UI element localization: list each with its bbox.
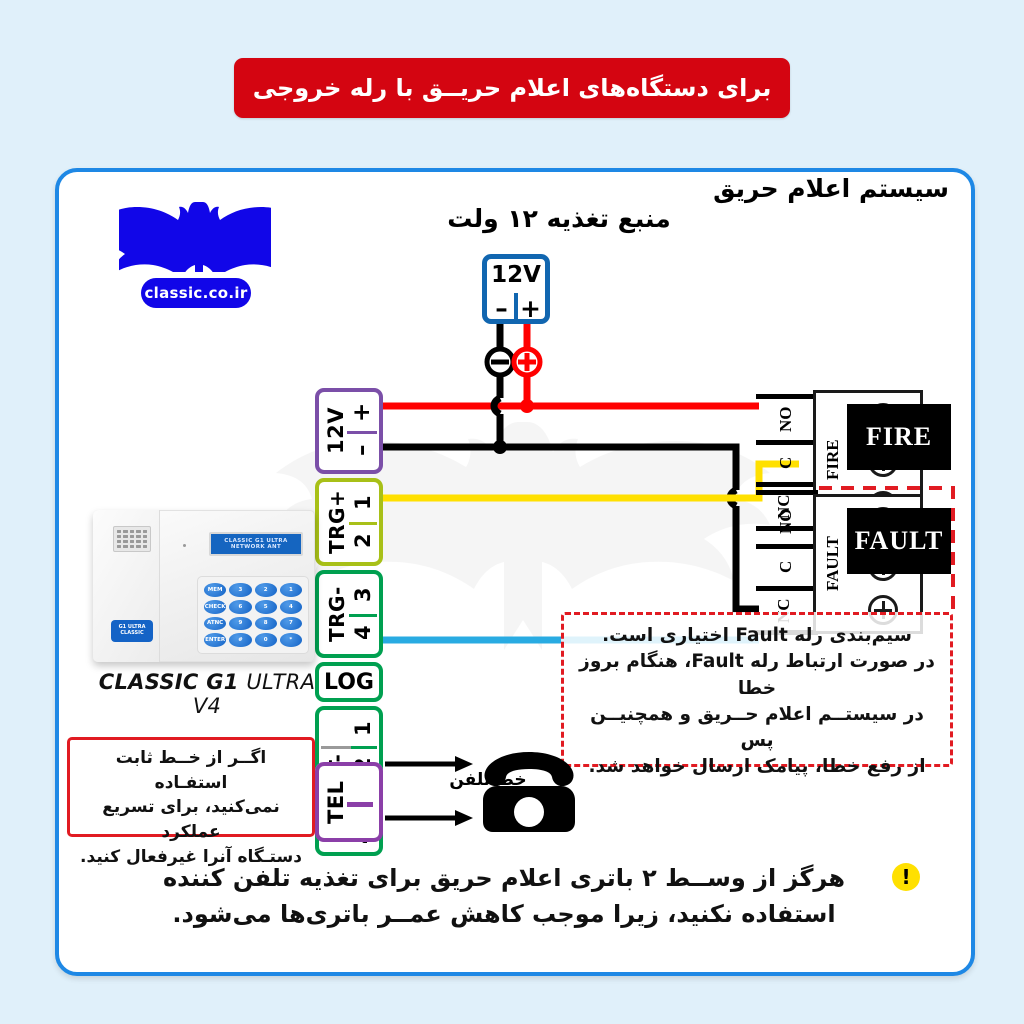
wire-black-junction — [493, 440, 507, 454]
device-brand-badge: G1 ULTRA CLASSIC — [111, 620, 153, 642]
key-atnc[interactable]: ATNC — [204, 617, 226, 631]
exclamation-icon: ! — [892, 863, 920, 891]
power-supply-box: 12V – + — [482, 254, 550, 324]
key-8[interactable]: 8 — [255, 617, 277, 631]
key-hash[interactable]: # — [229, 633, 251, 647]
fault-pin-no: NO — [775, 502, 797, 540]
key-4[interactable]: 4 — [280, 600, 302, 614]
key-7[interactable]: 7 — [280, 617, 302, 631]
fire-pin-no: NO — [775, 400, 797, 438]
terminal-log-label: LOG — [324, 670, 374, 695]
logo-domain-pill: classic.co.ir — [141, 278, 251, 308]
telephone-arrows — [383, 754, 483, 830]
fault-no-bar — [756, 544, 818, 549]
supply-plus-glyph — [518, 353, 536, 371]
fault-top-bar — [756, 490, 818, 495]
supply-plus-terminal-icon — [514, 349, 540, 375]
device-model-name: CLASSIC G1 ULTRA V4 — [87, 670, 327, 718]
fault-relay-note: سیم‌بندی رله Fault اختیاری است. در صورت … — [561, 612, 953, 767]
lcd-line-2: NETWORK ANT — [231, 544, 281, 550]
diagram-card: classic.co.ir منبع تغذیه ۱۲ ولت 12V – + … — [55, 168, 975, 976]
wire-black-right — [500, 447, 736, 490]
terminal-trg-plus-separator — [349, 522, 377, 525]
tel-note-line-2: نمی‌کنید، برای تسریع عملکرد — [78, 795, 304, 844]
wire-black-hop-over-red — [494, 398, 500, 414]
fire-indicator-box: FIRE — [847, 404, 951, 470]
out-minus-sep-1 — [349, 746, 377, 749]
key-check[interactable]: CHECK — [204, 600, 226, 614]
power-supply-minus-label: – — [487, 293, 516, 323]
terminal-block-tel: TEL — [315, 762, 383, 842]
telephone-line-note: اگــر از خــط ثابت استفـاده نمی‌کنید، بر… — [67, 737, 315, 837]
terminal-trg-plus-pin-2: 2 — [351, 522, 375, 560]
terminal-12v-separator — [347, 431, 377, 434]
logo-domain-text: classic.co.ir — [144, 284, 247, 302]
fault-note-line-1: سیم‌بندی رله Fault اختیاری است. — [578, 623, 936, 649]
key-6[interactable]: 6 — [229, 600, 251, 614]
power-supply-plus-label: + — [516, 293, 545, 323]
device-keypad[interactable]: 1 2 3 MEM 4 5 6 CHECK 7 8 9 ATNC * 0 # E… — [197, 576, 309, 654]
warning-line-2: استفاده نکنید، زیرا موجب کاهش عمــر باتر… — [96, 896, 912, 932]
out-minus-sep-1b — [321, 746, 351, 749]
terminal-trg-minus-pin-4: 4 — [351, 614, 375, 652]
key-mem[interactable]: MEM — [204, 583, 226, 597]
terminal-12v-pin-plus: + — [349, 394, 375, 430]
fire-no-bar — [756, 394, 818, 399]
device-lcd-screen: CLASSIC G1 ULTRA NETWORK ANT — [209, 532, 303, 556]
battery-warning: ! هرگز از وســط ۲ باتری اعلام حریق برای … — [96, 860, 912, 950]
fire-indicator-text: FIRE — [866, 422, 932, 452]
header-banner: برای دستگاه‌های اعلام حریــق با رله خروج… — [234, 58, 790, 118]
telephone-icon — [479, 750, 579, 834]
wire-red-junction — [520, 399, 534, 413]
key-2[interactable]: 2 — [255, 583, 277, 597]
tel-note-line-1: اگــر از خــط ثابت استفـاده — [78, 746, 304, 795]
fire-system-title: سیستم اعلام حریق — [619, 174, 949, 203]
fire-pin-c: C — [775, 446, 797, 480]
fire-nc-bar — [756, 482, 818, 487]
terminal-trg-minus-pin-3: 3 — [351, 576, 375, 614]
key-enter[interactable]: ENTER — [204, 633, 226, 647]
terminal-12v-pin-minus: – — [349, 432, 375, 468]
fault-note-line-4: از رفع خطا، پیامک ارسال خواهد شد. — [578, 754, 936, 780]
fault-indicator-text: FAULT — [855, 526, 944, 556]
fault-note-line-2: در صورت ارتباط رله Fault، هنگام بروز خطا — [578, 649, 936, 702]
wire-black-to-12v-minus — [383, 414, 500, 447]
power-supply-title: منبع تغذیه ۱۲ ولت — [409, 204, 709, 233]
bat-icon — [119, 198, 271, 272]
control-panel-device: G1 ULTRA CLASSIC CLASSIC G1 ULTRA NETWOR… — [87, 502, 327, 702]
fault-relay-label: FAULT — [820, 497, 846, 631]
terminal-trg-plus-pin-1: 1 — [351, 484, 375, 522]
device-body: G1 ULTRA CLASSIC CLASSIC G1 ULTRA NETWOR… — [93, 510, 315, 662]
terminal-out-minus-pin-1: 1 — [351, 712, 375, 746]
header-banner-text: برای دستگاه‌های اعلام حریــق با رله خروج… — [253, 74, 772, 102]
terminal-block-12v: 12V + – — [315, 388, 383, 474]
wire-red-to-12v-plus — [383, 375, 527, 406]
key-1[interactable]: 1 — [280, 583, 302, 597]
wire-black-hop-over-yellow — [730, 490, 736, 506]
device-led-indicator — [183, 544, 186, 547]
supply-minus-terminal-icon — [487, 349, 513, 375]
key-3[interactable]: 3 — [229, 583, 251, 597]
infographic-root: برای دستگاه‌های اعلام حریــق با رله خروج… — [0, 0, 1024, 1024]
key-9[interactable]: 9 — [229, 617, 251, 631]
fault-indicator-box: FAULT — [847, 508, 951, 574]
brand-logo: classic.co.ir — [105, 198, 285, 316]
key-5[interactable]: 5 — [255, 600, 277, 614]
key-0[interactable]: 0 — [255, 633, 277, 647]
warning-line-1: هرگز از وســط ۲ باتری اعلام حریق برای تغ… — [96, 860, 912, 896]
key-star[interactable]: * — [280, 633, 302, 647]
fault-pin-c: C — [775, 550, 797, 584]
wire-black-to-fault-c — [736, 506, 759, 609]
fault-note-line-3: در سیستــم اعلام حــریق و همچنیــن پس — [578, 702, 936, 755]
device-speaker-grille — [113, 526, 151, 552]
fault-c-bar — [756, 586, 818, 591]
fire-c-bar — [756, 440, 818, 445]
device-model-bold: CLASSIC G1 — [99, 670, 239, 694]
device-badge-line2: CLASSIC — [120, 631, 143, 637]
power-supply-voltage-label: 12V — [487, 258, 545, 292]
terminal-tel-link — [347, 802, 373, 807]
terminal-trg-minus-separator — [349, 614, 377, 617]
